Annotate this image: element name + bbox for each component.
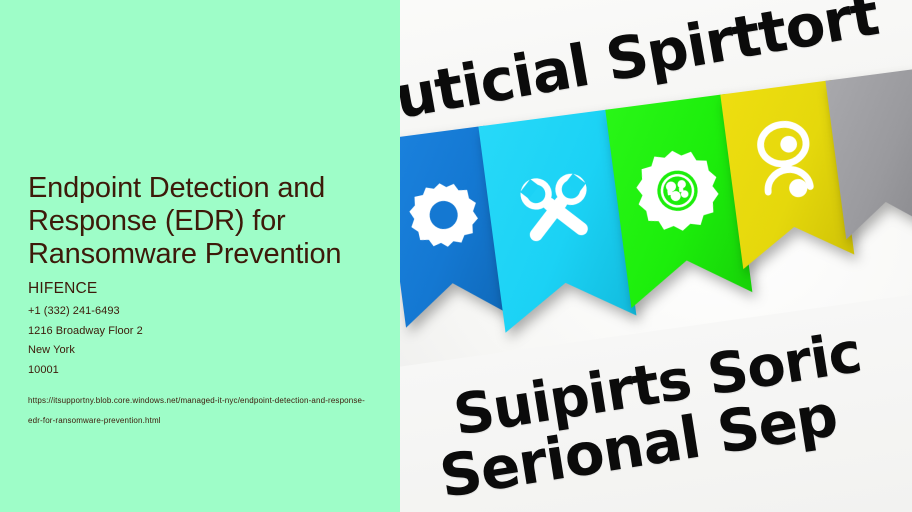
gear-cogs-icon (630, 142, 724, 236)
phone-number: +1 (332) 241-6493 (28, 302, 390, 322)
crossed-wrench-screwdriver-icon (504, 157, 607, 260)
city: New York (28, 341, 390, 361)
info-panel: Endpoint Detection and Response (EDR) fo… (0, 0, 400, 512)
page-root: Endpoint Detection and Response (EDR) fo… (0, 0, 912, 512)
postal-code: 10001 (28, 361, 390, 381)
street-address: 1216 Broadway Floor 2 (28, 322, 390, 342)
gear-icon (400, 172, 487, 260)
page-title: Endpoint Detection and Response (EDR) fo… (28, 172, 390, 271)
page-url[interactable]: https://itsupportny.blob.core.windows.ne… (28, 391, 368, 431)
company-name: HIFENCE (28, 279, 390, 298)
info-panel-content: Endpoint Detection and Response (EDR) fo… (28, 172, 390, 431)
hero-image-panel: uticial Spirttort (400, 0, 912, 512)
headset-support-icon (743, 116, 830, 213)
